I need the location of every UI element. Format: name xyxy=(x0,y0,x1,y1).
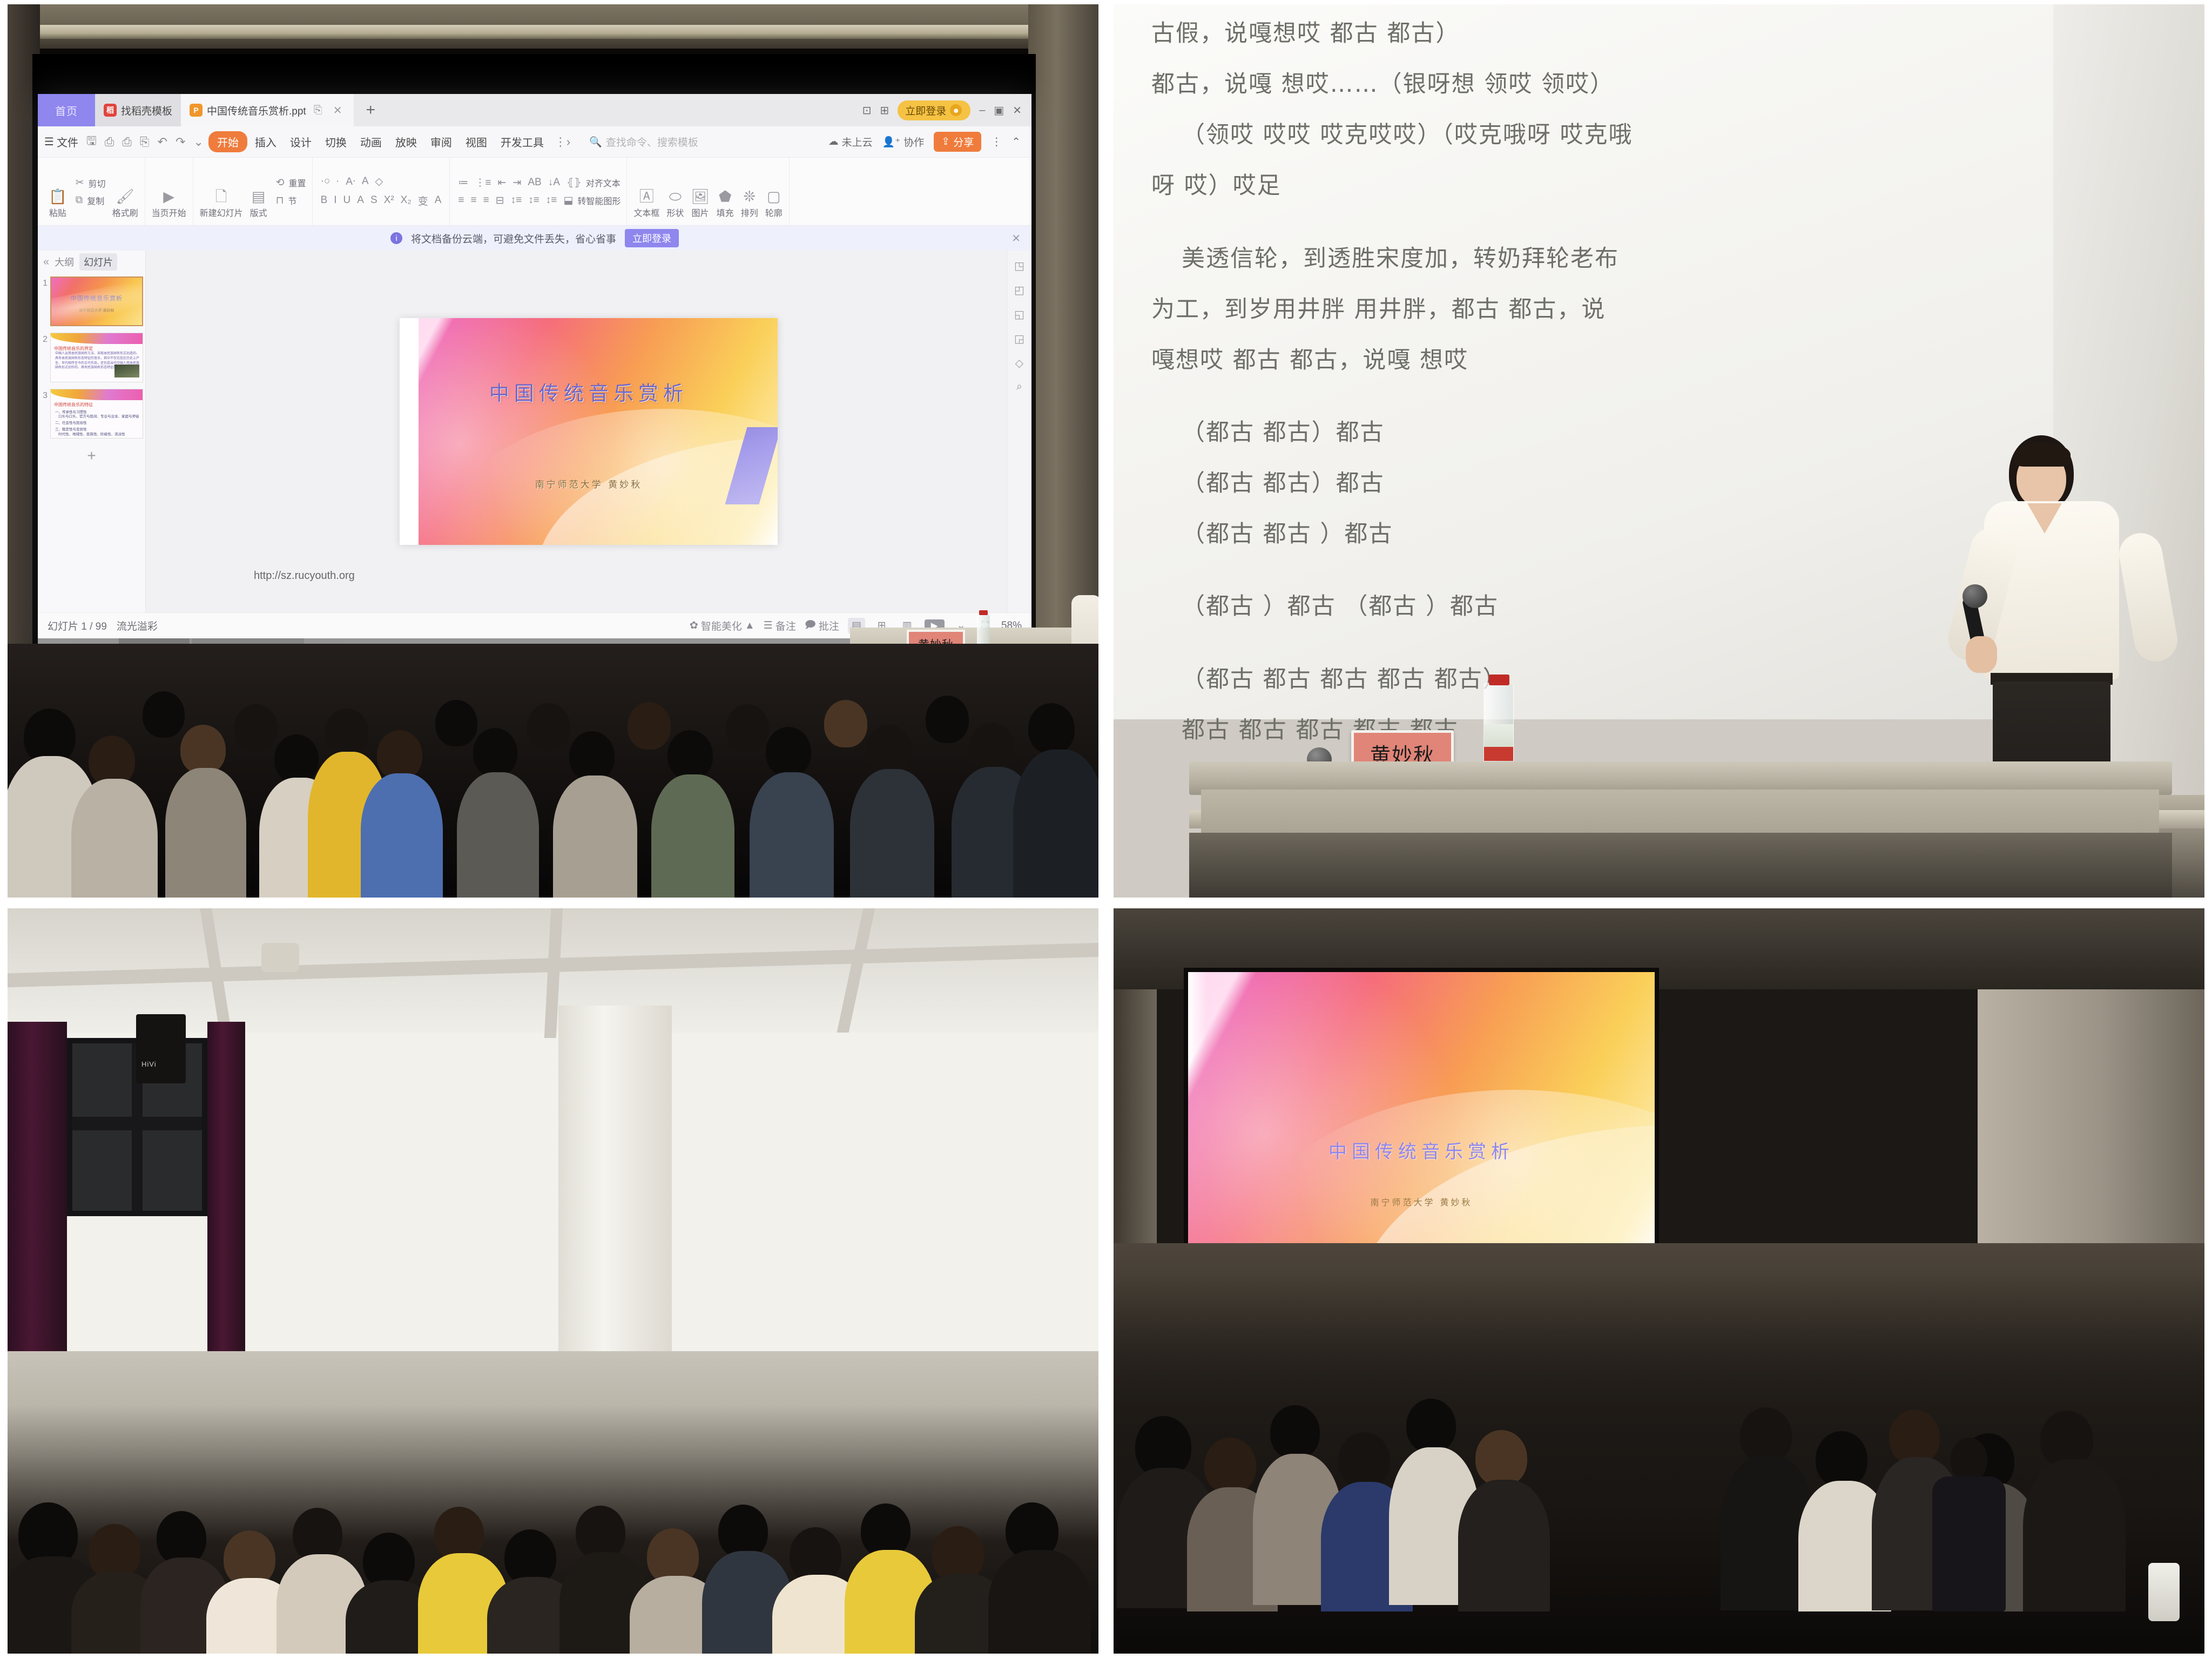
cloud-icon: ☁ xyxy=(828,136,839,148)
thumbnail-heading: 中国传统音乐的特征 xyxy=(54,402,93,408)
ribbon-tab-transition[interactable]: 切换 xyxy=(319,132,353,152)
lyric-line: 呀 哎）哎足 xyxy=(1151,162,1945,210)
arrange-icon: ❊ xyxy=(743,190,756,204)
thumbnail-image xyxy=(114,365,139,377)
copy-button[interactable]: ⧉ 复制 xyxy=(73,193,106,208)
desk-base xyxy=(1189,833,2172,898)
panel4-background: 中国传统音乐赏析 南宁师范大学 黄妙秋 xyxy=(1114,908,2204,1654)
bottle-cap xyxy=(979,610,988,615)
italic-button[interactable]: I xyxy=(332,193,339,208)
thumbnail-item[interactable]: 3 中国传统音乐的特征 一、传承性与习惯性 口头与口头、官方与民间、专业与业余、… xyxy=(40,389,143,439)
print-icon[interactable]: ⎙ xyxy=(119,135,135,149)
picture-icon: 🖼 xyxy=(691,190,709,204)
bullets-icon[interactable]: ≔ xyxy=(456,175,470,191)
audience-head xyxy=(766,727,811,777)
search-icon[interactable]: ⌕ xyxy=(1016,381,1022,393)
lyric-line: （都古 都古）都古 xyxy=(1151,409,1945,456)
fill-button[interactable]: ⬟ 填充 xyxy=(714,186,737,225)
slide-title-text[interactable]: 中国传统音乐赏析 xyxy=(400,377,778,406)
cloud-status[interactable]: ☁ 未上云 xyxy=(828,134,873,149)
audience-shirt xyxy=(457,772,539,898)
reset-icon: ⟲ xyxy=(274,175,287,191)
kebab-icon[interactable]: ⋮ xyxy=(991,135,1002,149)
beautify-icon: ✿ xyxy=(690,619,698,632)
notification-close-icon[interactable]: ✕ xyxy=(1011,232,1021,245)
ribbon-tab-insert[interactable]: 插入 xyxy=(249,132,282,152)
search-input[interactable]: 🔍 查找命令、搜索模板 xyxy=(589,134,767,149)
wps-application-window: 首页 稻 找稻壳模板 P 中国传统音乐赏析.ppt ⎘ ✕ + xyxy=(38,94,1031,662)
highlight-button[interactable]: A xyxy=(433,193,444,208)
picture-button[interactable]: 🖼 图片 xyxy=(688,186,712,225)
textbox-label: 文本框 xyxy=(633,206,659,219)
shape-library-icon[interactable]: ◰ xyxy=(1014,284,1024,297)
ribbon-group-paragraph: ≔ ⋮≡ ⇤ ⇥ AB ↓A ⦃⦄ 对齐文本 xyxy=(450,158,627,225)
lyric-line: 美透信轮，到透胜宋度加，转奶拜轮老布 xyxy=(1151,235,1945,282)
template-tab[interactable]: 稻 找稻壳模板 xyxy=(95,94,181,126)
lyric-line: （都古 都古 ）都古 xyxy=(1151,510,1945,558)
thumbnail-list: 1 中国传统音乐赏析 南宁师范大学 黄妙秋 2 xyxy=(38,273,145,612)
audience-head xyxy=(1816,1431,1867,1487)
wps-menu-bar: ☰ 文件 🖫 ⎙ ⎙ ⎘ ↶ ↷ ⌄ clipboard 开始 插入 设计 xyxy=(38,126,1031,158)
audience-silhouettes xyxy=(8,644,1098,898)
superscript-button[interactable]: X² xyxy=(382,193,396,208)
lyric-line: 为工，到岁用井胖 用井胖，都古 都古，说 xyxy=(1151,286,1945,333)
document-tab[interactable]: P 中国传统音乐赏析.ppt ⎘ ✕ xyxy=(181,94,354,126)
water-bottle xyxy=(2148,1563,2180,1621)
tab-outline[interactable]: 大纲 xyxy=(55,255,74,269)
audience-shirt xyxy=(2023,1459,2126,1611)
comment-button[interactable]: 🗩 批注 xyxy=(805,617,839,635)
hivi-speaker: HiVi xyxy=(136,1014,186,1083)
arrange-button[interactable]: ❊ 排列 xyxy=(738,186,761,225)
hivi-brand-label: HiVi xyxy=(141,1060,157,1068)
audience-head xyxy=(325,709,368,756)
thumbnail-slide-2[interactable]: 中国传统音乐的界定 中国人运用本民族固有方法、采取本民族固有形式创造的、具有本民… xyxy=(50,333,143,382)
reset-button[interactable]: ⟲ 重置 xyxy=(274,175,306,191)
copy-label: 复制 xyxy=(87,194,104,207)
projection-screen: 中国传统音乐赏析 南宁师范大学 黄妙秋 xyxy=(1184,968,1659,1270)
search-icon: 🔍 xyxy=(589,136,602,149)
audience-head xyxy=(866,725,912,774)
file-menu[interactable]: ☰ 文件 xyxy=(44,134,82,150)
format-painter-button[interactable]: 🖌 格式刷 xyxy=(110,186,141,225)
slide-number: 1 xyxy=(40,276,48,288)
layout-icon: ▤ xyxy=(252,190,266,204)
ppt-file-icon: P xyxy=(190,104,203,117)
save-as-icon[interactable]: ⎙ xyxy=(102,135,118,149)
paste-label: 粘贴 xyxy=(49,206,66,219)
audience-shirt xyxy=(553,775,637,898)
window-pane xyxy=(143,1130,202,1211)
panel-classroom-wide-view: HiVi 出 口 xyxy=(8,908,1098,1654)
lyrics-text-block: 古假，说嘎想哎 都古 都古） 都古，说嘎 想哎……（银呀想 领哎 领哎） （领哎… xyxy=(1151,10,1945,757)
text-direction-icon[interactable]: AB xyxy=(525,175,543,190)
ribbon-tab-slideshow[interactable]: 放映 xyxy=(389,132,423,152)
hall-background: 首页 稻 找稻壳模板 P 中国传统音乐赏析.ppt ⎘ ✕ + xyxy=(8,4,1098,898)
audience-head xyxy=(861,1503,911,1557)
audience-head xyxy=(718,1505,768,1559)
para-row-bottom: ≡ ≡ ≡ ⊟ ↕≡ ↕≡ ↕≡ ⬓ 转智能图形 xyxy=(456,193,621,208)
search-placeholder: 查找命令、搜索模板 xyxy=(606,134,698,149)
slide-counter: 幻灯片 1 / 99 xyxy=(48,618,107,633)
audience-head xyxy=(1406,1399,1456,1453)
increase-indent-icon[interactable]: ⇥ xyxy=(510,175,523,191)
audience-head xyxy=(157,1511,206,1565)
audience-head xyxy=(434,1507,484,1561)
audience-head xyxy=(1475,1430,1527,1486)
audience-head xyxy=(377,730,422,780)
speaker-fringe xyxy=(2014,443,2071,467)
thumbnail-tabs: « 大纲 幻灯片 xyxy=(38,251,145,273)
audience-head xyxy=(1204,1438,1256,1494)
subscript-button[interactable]: X₂ xyxy=(399,193,414,208)
notification-text: 将文档备份云端，可避免文件丢失，省心省事 xyxy=(411,231,616,246)
tab-slides[interactable]: 幻灯片 xyxy=(79,253,117,271)
audience-shirt xyxy=(651,774,734,898)
photo-collage: 首页 稻 找稻壳模板 P 中国传统音乐赏析.ppt ⎘ ✕ + xyxy=(0,0,2212,1659)
audience-head xyxy=(576,1506,625,1560)
clipboard-small-buttons: ✂ 剪切 ⧉ 复制 xyxy=(71,158,108,225)
theme-name: 流光溢彩 xyxy=(117,618,158,633)
beautify-label: 智能美化 xyxy=(701,618,742,633)
slide-thumbnail-panel: « 大纲 幻灯片 1 中国传统音乐赏析 xyxy=(38,251,146,612)
line-spacing-up-icon[interactable]: ↕≡ xyxy=(509,193,524,208)
audience-shirt xyxy=(1458,1480,1550,1611)
audience-head xyxy=(667,730,713,780)
audience-shirt xyxy=(361,773,443,898)
collaborate-button[interactable]: 👤⁺ 协作 xyxy=(882,134,925,149)
paragraph-controls: ≔ ⋮≡ ⇤ ⇥ AB ↓A ⦃⦄ 对齐文本 xyxy=(454,158,623,225)
share-button[interactable]: ⇪ 分享 xyxy=(934,132,981,152)
thumbnail-line: 口头与口头、官方与民间、专业与业余、家庭与师徒 xyxy=(58,413,139,419)
chart-icon[interactable]: ◱ xyxy=(1014,308,1024,321)
align-text-button[interactable]: ⦃⦄ xyxy=(564,175,584,191)
lyric-line: 嘎想哎 都古 都古，说嘎 想哎 xyxy=(1151,336,1945,384)
home-tab[interactable]: 首页 xyxy=(38,94,95,126)
slide-band xyxy=(51,389,143,400)
start-from-current-button[interactable]: ▶ 当页开始 xyxy=(149,186,189,225)
lyric-line: （都古 ）都古 （都古 ）都古 xyxy=(1151,583,1945,630)
thumbnail-slide-3[interactable]: 中国传统音乐的特征 一、传承性与习惯性 口头与口头、官方与民间、专业与业余、家庭… xyxy=(50,389,143,439)
thumbnail-background: 中国传统音乐赏析 南宁师范大学 黄妙秋 xyxy=(51,278,142,325)
template-tab-label: 找稻壳模板 xyxy=(121,103,172,118)
cut-label: 剪切 xyxy=(89,177,106,190)
ribbon-group-font: ·○ · A͏ᐧ A ◇ B I U A xyxy=(313,158,450,225)
slide-subtitle-text: 南宁师范大学 黄妙秋 xyxy=(1188,1195,1655,1208)
panel-hall-from-back: 中国传统音乐赏析 南宁师范大学 黄妙秋 xyxy=(1114,908,2204,1654)
current-slide[interactable]: 中国传统音乐赏析 南宁师范大学 黄妙秋 xyxy=(400,318,778,545)
undo-icon[interactable]: ↶ xyxy=(154,135,171,149)
textbox-icon: 🄰 xyxy=(639,190,654,204)
notification-login-button[interactable]: 立即登录 xyxy=(625,229,679,247)
paste-icon: 📋 xyxy=(49,190,67,204)
thumbnail-background: 中国传统音乐的界定 中国人运用本民族固有方法、采取本民族固有形式创造的、具有本民… xyxy=(51,333,143,382)
thumbnail-background: 中国传统音乐的特征 一、传承性与习惯性 口头与口头、官方与民间、专业与业余、家庭… xyxy=(51,389,143,438)
thumbnail-item[interactable]: 2 中国传统音乐的界定 中国人运用本民族固有方法、采取本民族固有形式创造的、具有… xyxy=(40,333,143,382)
align-text-label: 对齐文本 xyxy=(586,176,621,189)
hamburger-icon: ☰ xyxy=(44,135,54,149)
beautify-button[interactable]: ✿ 智能美化 ▲ xyxy=(690,618,755,633)
share-label: 分享 xyxy=(953,134,974,149)
audience-head xyxy=(293,1508,342,1562)
paste-button[interactable]: 📋 粘贴 xyxy=(46,186,70,225)
thumbnail-slide-1[interactable]: 中国传统音乐赏析 南宁师范大学 黄妙秋 xyxy=(50,276,143,326)
thumbnail-heading: 中国传统音乐的界定 xyxy=(54,346,93,352)
ribbon-group-clipboard: 📋 粘贴 ✂ 剪切 ⧉ 复制 xyxy=(42,158,145,225)
pinyin-button[interactable]: 变 xyxy=(416,192,430,210)
notes-button[interactable]: ☰ 备注 xyxy=(764,618,796,633)
audience-shirt xyxy=(850,769,934,898)
clear-format-icon[interactable]: ◇ xyxy=(373,174,386,190)
ribbon-tab-review[interactable]: 审阅 xyxy=(424,132,458,152)
print-preview-icon[interactable]: ⎘ xyxy=(137,135,153,149)
login-button[interactable]: 立即登录 ☻ xyxy=(898,100,970,120)
outline-button[interactable]: ▢ 轮廓 xyxy=(763,186,785,225)
speaker-right-arm xyxy=(2116,530,2181,665)
thumbnail-subtitle: 南宁师范大学 黄妙秋 xyxy=(51,308,142,313)
projection-screen-frame: 首页 稻 找稻壳模板 P 中国传统音乐赏析.ppt ⎘ ✕ + xyxy=(32,54,1036,665)
sort-icon[interactable]: ↓A xyxy=(546,175,562,190)
window-controls: ⊡ ⊞ 立即登录 ☻ – ▣ ✕ xyxy=(862,94,1031,126)
panel3-background: HiVi 出 口 xyxy=(8,908,1098,1654)
person-head xyxy=(1951,1438,1987,1481)
person-torso xyxy=(1932,1476,2006,1611)
slide-band xyxy=(51,333,143,344)
font-row-bottom: B I U A S X² X₂ 变 A xyxy=(319,192,444,210)
standing-person xyxy=(1924,1438,2015,1654)
shapes-label: 形状 xyxy=(666,206,684,219)
new-tab-button[interactable]: + xyxy=(354,94,387,126)
shadow-button[interactable]: S xyxy=(368,193,380,208)
comment-icon: 🗩 xyxy=(805,617,816,635)
slides-small-buttons: ⟲ 重置 ⊓ 节 xyxy=(272,158,308,225)
new-slide-label: 新建幻灯片 xyxy=(200,206,243,219)
ribbon-tab-start[interactable]: 开始 xyxy=(208,131,247,152)
single-page-view-icon[interactable]: ⊡ xyxy=(862,104,872,117)
audience-head xyxy=(969,723,1014,772)
shapes-button[interactable]: ⬭ 形状 xyxy=(664,186,686,225)
numbering-icon[interactable]: ⋮≡ xyxy=(473,175,493,191)
grid-view-icon[interactable]: ⊞ xyxy=(880,104,889,117)
audience-head xyxy=(569,731,615,781)
audience-head xyxy=(1740,1407,1792,1464)
ai-icon[interactable]: ◇ xyxy=(1015,356,1023,370)
audience-head xyxy=(527,703,570,751)
layout-label: 版式 xyxy=(250,206,267,219)
start-label: 当页开始 xyxy=(152,206,186,219)
audience-head xyxy=(274,734,319,783)
slide-editing-area[interactable]: 中国传统音乐赏析 南宁师范大学 黄妙秋 http://sz.rucyouth.o… xyxy=(146,251,1031,612)
cloud-backup-notification: i 将文档备份云端，可避免文件丢失，省心省事 立即登录 ✕ xyxy=(38,226,1031,251)
ceiling-projector xyxy=(261,943,299,972)
smartart-label: 转智能图形 xyxy=(577,194,621,207)
redo-icon[interactable]: ↷ xyxy=(172,135,188,149)
picture-label: 图片 xyxy=(692,206,709,219)
fill-label: 填充 xyxy=(717,206,734,219)
avatar: ☻ xyxy=(950,104,962,116)
audience-head xyxy=(435,700,477,746)
justify-icon[interactable]: ⊟ xyxy=(494,193,507,208)
strikethrough-button[interactable]: A xyxy=(355,193,366,208)
audience-shirt xyxy=(1013,750,1098,898)
chevron-down-icon[interactable]: ⌄ xyxy=(190,135,206,149)
url-text: http://sz.rucyouth.org xyxy=(254,570,355,582)
section-label: 节 xyxy=(288,194,296,207)
media-icon[interactable]: ◲ xyxy=(1014,332,1024,346)
audience-head xyxy=(1270,1405,1320,1459)
projection-surface: 古假，说嘎想哎 都古 都古） 都古，说嘎 想哎……（银呀想 领哎 领哎） （领哎… xyxy=(1114,4,2053,719)
panel2-background: 古假，说嘎想哎 都古 都古） 都古，说嘎 想哎……（银呀想 领哎 领哎） （领哎… xyxy=(1114,4,2204,898)
thumbnail-line: 时代性、地域性、民族性、阶级性、流派性 xyxy=(58,431,125,436)
thumbnail-item[interactable]: 1 中国传统音乐赏析 南宁师范大学 黄妙秋 xyxy=(40,276,143,326)
info-icon: i xyxy=(390,232,402,244)
lyric-line: （都古 都古）都古 xyxy=(1151,460,1945,507)
panel-lecture-hall-projected-slides: 首页 稻 找稻壳模板 P 中国传统音乐赏析.ppt ⎘ ✕ + xyxy=(8,4,1098,898)
font-controls: ·○ · A͏ᐧ A ◇ B I U A xyxy=(316,158,446,225)
ribbon-group-insert: 🄰 文本框 ⬭ 形状 🖼 图片 xyxy=(627,158,789,225)
window-pane xyxy=(72,1130,132,1211)
more-tabs-icon[interactable]: ⋮› xyxy=(551,135,574,149)
audience-head xyxy=(143,691,185,738)
bottle-label-red xyxy=(1484,747,1513,761)
file-menu-label: 文件 xyxy=(57,134,78,150)
feature-icon[interactable]: ◳ xyxy=(1014,259,1024,273)
line-spacing-icon[interactable]: ↕≡ xyxy=(544,193,559,208)
bold-button[interactable]: B xyxy=(319,193,330,208)
audience-head xyxy=(234,704,278,752)
shrink-font-icon[interactable]: A xyxy=(360,174,371,189)
login-label: 立即登录 xyxy=(905,103,946,118)
decrease-indent-icon[interactable]: ⇤ xyxy=(496,175,509,191)
share-icon: ⇪ xyxy=(941,136,950,148)
ribbon-group-slides: 🗋 新建幻灯片 ▤ 版式 ⟲ 重置 xyxy=(193,158,313,225)
outline-icon: ▢ xyxy=(767,190,781,204)
align-center-icon[interactable]: ≡ xyxy=(469,193,479,208)
fill-icon: ⬟ xyxy=(719,190,731,204)
projected-slide: 中国传统音乐赏析 南宁师范大学 黄妙秋 xyxy=(1188,972,1655,1266)
wps-work-area: « 大纲 幻灯片 1 中国传统音乐赏析 xyxy=(38,251,1031,612)
ribbon-group-slideshow: ▶ 当页开始 xyxy=(145,158,193,225)
audience-head xyxy=(926,696,969,743)
textbox-button[interactable]: 🄰 文本框 xyxy=(631,186,662,225)
new-slide-icon: 🗋 xyxy=(215,190,227,204)
add-slide-button[interactable]: + xyxy=(40,445,143,467)
lectern-desk: 黄妙秋 xyxy=(1189,714,2172,898)
ribbon-tab-view[interactable]: 视图 xyxy=(460,132,493,152)
ribbon-tab-design[interactable]: 设计 xyxy=(284,132,318,152)
cut-icon: ✂ xyxy=(73,175,86,191)
bottle-cap xyxy=(1489,675,1509,685)
underline-button[interactable]: U xyxy=(341,193,353,208)
reset-label: 重置 xyxy=(289,176,306,189)
smartart-icon[interactable]: ⬓ xyxy=(561,193,575,208)
lyric-line: （都古 都古 都古 都古 都古） xyxy=(1151,656,1945,703)
close-button[interactable]: ✕ xyxy=(1013,104,1022,117)
line-spacing-down-icon[interactable]: ↕≡ xyxy=(526,193,542,208)
font-row-top: ·○ · A͏ᐧ A ◇ xyxy=(319,174,444,190)
audience-head xyxy=(726,704,769,752)
lyric-line: 古假，说嘎想哎 都古 都古） xyxy=(1151,10,1945,57)
slide-number: 3 xyxy=(40,389,48,401)
collapse-panel-icon[interactable]: « xyxy=(43,256,49,268)
menu-right-actions: ☁ 未上云 👤⁺ 协作 ⇪ 分享 ⋮ xyxy=(828,132,1025,152)
audience-shirt xyxy=(750,772,834,898)
slide-subtitle-text[interactable]: 南宁师范大学 黄妙秋 xyxy=(400,477,778,490)
comment-label: 批注 xyxy=(819,618,839,633)
restore-button[interactable]: ▣ xyxy=(994,104,1004,117)
window-pane xyxy=(72,1043,132,1117)
grow-font-icon[interactable]: A͏ᐧ xyxy=(343,174,358,190)
outline-label: 轮廓 xyxy=(765,206,783,219)
font-family-select[interactable]: ·○ · xyxy=(319,174,342,189)
play-icon: ▶ xyxy=(163,190,174,204)
lyric-line: （领哎 哎哎 哎克哎哎）（哎克哦呀 哎克哦 xyxy=(1151,111,1945,159)
close-icon[interactable]: ✕ xyxy=(330,104,346,117)
cloud-label: 未上云 xyxy=(842,134,873,149)
section-icon: ⊓ xyxy=(274,193,286,208)
notes-label: 备注 xyxy=(775,618,796,633)
cut-button[interactable]: ✂ 剪切 xyxy=(73,175,106,191)
save-icon[interactable]: 🖫 xyxy=(83,132,100,152)
lyric-line: 都古，说嘎 想哎……（银呀想 领哎 领哎） xyxy=(1151,60,1945,108)
audience-shirt xyxy=(165,768,246,898)
audience-head xyxy=(1028,703,1075,754)
audience-head xyxy=(824,700,867,747)
slide-number: 2 xyxy=(40,333,48,345)
minimize-button[interactable]: – xyxy=(979,104,985,117)
audience-head xyxy=(628,702,671,750)
pin-icon[interactable]: ⎘ xyxy=(311,104,326,117)
document-tab-label: 中国传统音乐赏析.ppt xyxy=(207,103,306,118)
add-user-icon: 👤⁺ xyxy=(882,136,901,149)
audience-shirt xyxy=(988,1550,1091,1654)
layout-button[interactable]: ▤ 版式 xyxy=(247,186,270,225)
format-painter-icon: 🖌 xyxy=(116,190,134,204)
audience-crowd xyxy=(1114,1276,2204,1654)
chevron-up-icon[interactable]: ⌃ xyxy=(1011,135,1021,149)
speaker-hand xyxy=(1966,636,1997,673)
ribbon-tab-devtools[interactable]: 开发工具 xyxy=(495,132,550,152)
para-row-top: ≔ ⋮≡ ⇤ ⇥ AB ↓A ⦃⦄ 对齐文本 xyxy=(456,175,621,191)
shapes-icon: ⬭ xyxy=(669,190,682,204)
audience-head xyxy=(473,728,517,777)
copy-icon: ⧉ xyxy=(73,193,85,208)
collab-label: 协作 xyxy=(903,134,924,149)
section-button[interactable]: ⊓ 节 xyxy=(274,193,306,208)
panel-lyrics-projection-speaker: 古假，说嘎想哎 都古 都古） 都古，说嘎 想哎……（银呀想 领哎 领哎） （领哎… xyxy=(1114,4,2204,898)
beautify-caret: ▲ xyxy=(745,620,755,632)
format-painter-label: 格式刷 xyxy=(112,206,138,219)
audience-crowd xyxy=(8,1405,1098,1654)
wps-ribbon: 📋 粘贴 ✂ 剪切 ⧉ 复制 xyxy=(38,158,1031,226)
align-right-icon[interactable]: ≡ xyxy=(481,193,491,208)
slide-left-edge xyxy=(400,318,419,545)
right-dock: ◳ ◰ ◱ ◲ ◇ ⌕ xyxy=(1007,251,1031,612)
wps-tab-bar: 首页 稻 找稻壳模板 P 中国传统音乐赏析.ppt ⎘ ✕ + xyxy=(38,94,1031,126)
thumbnail-line: 二、社会性与民俗性 xyxy=(55,420,87,425)
docer-icon: 稻 xyxy=(104,104,117,117)
align-left-icon[interactable]: ≡ xyxy=(456,193,466,208)
new-slide-button[interactable]: 🗋 新建幻灯片 xyxy=(197,186,246,225)
ribbon-tab-animation[interactable]: 动画 xyxy=(354,132,388,152)
notes-icon: ☰ xyxy=(764,619,773,632)
slide-title-text: 中国传统音乐赏析 xyxy=(1188,1137,1655,1163)
ceiling-rail xyxy=(8,25,1098,39)
audience-head xyxy=(180,725,226,774)
thumbnail-title: 中国传统音乐赏析 xyxy=(51,294,142,302)
arrange-label: 排列 xyxy=(741,206,758,219)
audience-head xyxy=(1338,1432,1390,1488)
